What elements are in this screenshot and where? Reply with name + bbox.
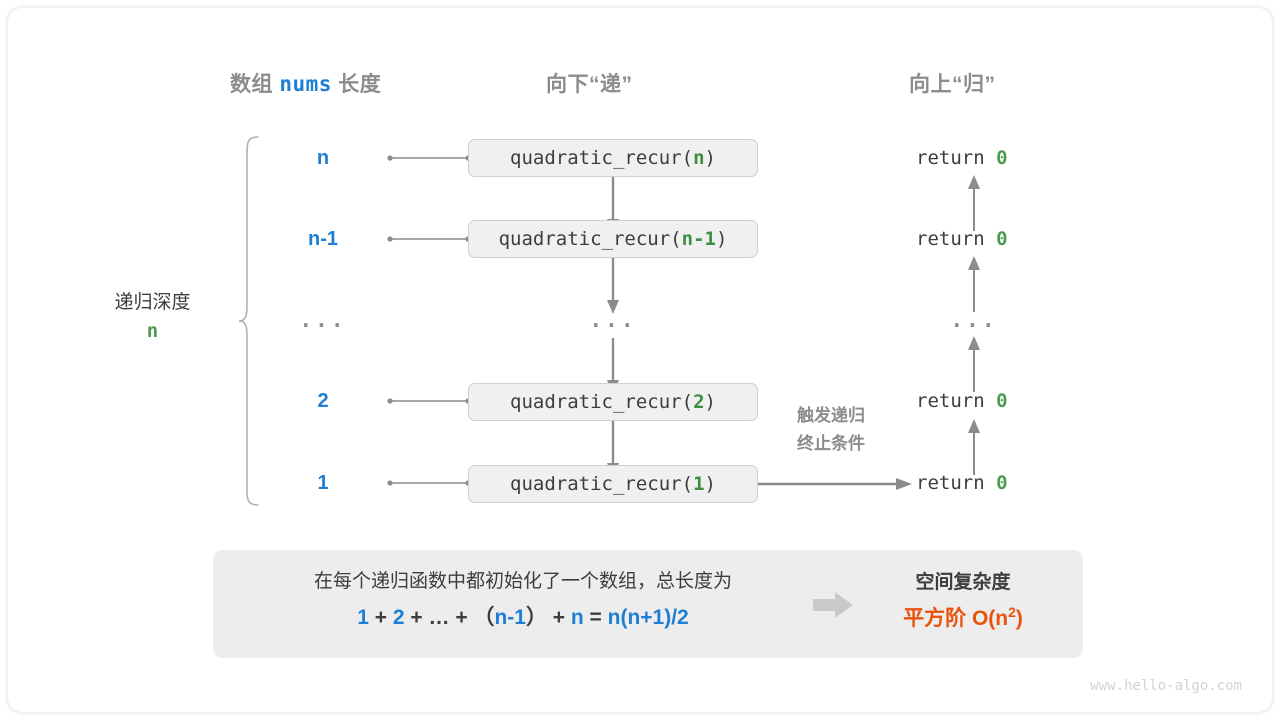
summary-text-block: 在每个递归函数中都初始化了一个数组，总长度为 1 + 2 + … + （n-1）… <box>243 564 803 637</box>
connector-line-row-2 <box>386 230 472 248</box>
summary-description: 在每个递归函数中都初始化了一个数组，总长度为 <box>243 564 803 600</box>
call-box-close-1: ) <box>705 147 716 169</box>
header-array-length: 数组 nums 长度 <box>230 68 381 98</box>
complexity-notation: O(n <box>972 607 1008 630</box>
header-array-name: nums <box>279 72 332 96</box>
depth-value-row-4: 2 <box>278 390 368 413</box>
return-value-4: 0 <box>996 390 1007 412</box>
depth-value-row-5: 1 <box>278 472 368 495</box>
summary-panel: 在每个递归函数中都初始化了一个数组，总长度为 1 + 2 + … + （n-1）… <box>213 550 1083 658</box>
connector-line-row-5 <box>386 474 472 492</box>
return-keyword-5: return <box>916 472 985 494</box>
watermark: www.hello-algo.com <box>1090 678 1242 694</box>
summary-complexity-value: 平方阶 O(n2) <box>853 601 1073 637</box>
return-value-1: 0 <box>996 147 1007 169</box>
call-box-close-2: ) <box>716 228 727 250</box>
result-arrow-icon <box>813 592 855 618</box>
call-box-name-1: quadratic_recur( <box>510 147 693 169</box>
call-box-arg-4: 2 <box>693 391 704 413</box>
return-row-2: return 0 <box>916 228 1008 250</box>
call-box-row-5[interactable]: quadratic_recur(1) <box>468 465 758 503</box>
diagram-card: 数组 nums 长度 向下“递” 向上“归” 递归深度 n n quadrati… <box>8 8 1272 712</box>
depth-brace-icon <box>236 134 264 508</box>
recursion-depth-text: 递归深度 <box>70 288 235 317</box>
header-array-suffix: 长度 <box>338 73 381 96</box>
call-box-close-4: ) <box>705 391 716 413</box>
complexity-exponent: 2 <box>1008 604 1016 620</box>
up-arrow-2-to-1-icon <box>964 173 984 231</box>
up-arrow-3-to-dots-icon <box>964 334 984 392</box>
connector-line-row-4 <box>386 392 472 410</box>
trigger-condition-note: 触发递归 终止条件 <box>770 402 892 458</box>
summary-formula: 1 + 2 + … + （n-1） + n = n(n+1)/2 <box>243 600 803 637</box>
return-keyword-1: return <box>916 147 985 169</box>
call-box-row-1[interactable]: quadratic_recur(n) <box>468 139 758 177</box>
call-box-name-2: quadratic_recur( <box>499 228 682 250</box>
summary-complexity-block: 空间复杂度 平方阶 O(n2) <box>853 564 1073 637</box>
call-box-name-4: quadratic_recur( <box>510 391 693 413</box>
depth-value-row-3: ... <box>278 308 368 332</box>
call-box-close-5: ) <box>705 473 716 495</box>
recursion-depth-value: n <box>70 317 235 346</box>
trigger-note-line-1: 触发递归 <box>770 402 892 430</box>
return-row-5: return 0 <box>916 472 1008 494</box>
header-recursion-down: 向下“递” <box>546 68 633 98</box>
call-box-name-5: quadratic_recur( <box>510 473 693 495</box>
up-arrow-5-to-4-icon <box>964 417 984 475</box>
return-value-2: 0 <box>996 228 1007 250</box>
return-row-1: return 0 <box>916 147 1008 169</box>
depth-value-row-1: n <box>278 147 368 170</box>
complexity-prefix: 平方阶 <box>903 607 966 630</box>
return-value-5: 0 <box>996 472 1007 494</box>
trigger-note-line-2: 终止条件 <box>770 430 892 458</box>
return-keyword-4: return <box>916 390 985 412</box>
header-array-prefix: 数组 <box>230 73 273 96</box>
return-keyword-2: return <box>916 228 985 250</box>
base-case-return-arrow-icon <box>758 474 916 494</box>
complexity-close: ) <box>1016 607 1023 630</box>
depth-value-row-2: n-1 <box>278 228 368 251</box>
call-box-row-3-ellipsis: ... <box>568 308 658 332</box>
connector-line-row-1 <box>386 149 472 167</box>
call-box-arg-1: n <box>693 147 704 169</box>
recursion-depth-label: 递归深度 n <box>70 288 235 347</box>
call-box-row-2[interactable]: quadratic_recur(n-1) <box>468 220 758 258</box>
header-recursion-up: 向上“归” <box>909 68 996 98</box>
call-box-row-4[interactable]: quadratic_recur(2) <box>468 383 758 421</box>
call-box-arg-2: n-1 <box>682 228 716 250</box>
return-row-3-ellipsis: ... <box>929 308 1019 332</box>
call-box-arg-5: 1 <box>693 473 704 495</box>
return-row-4: return 0 <box>916 390 1008 412</box>
up-arrow-dots-to-2-icon <box>964 254 984 312</box>
summary-complexity-title: 空间复杂度 <box>853 564 1073 601</box>
